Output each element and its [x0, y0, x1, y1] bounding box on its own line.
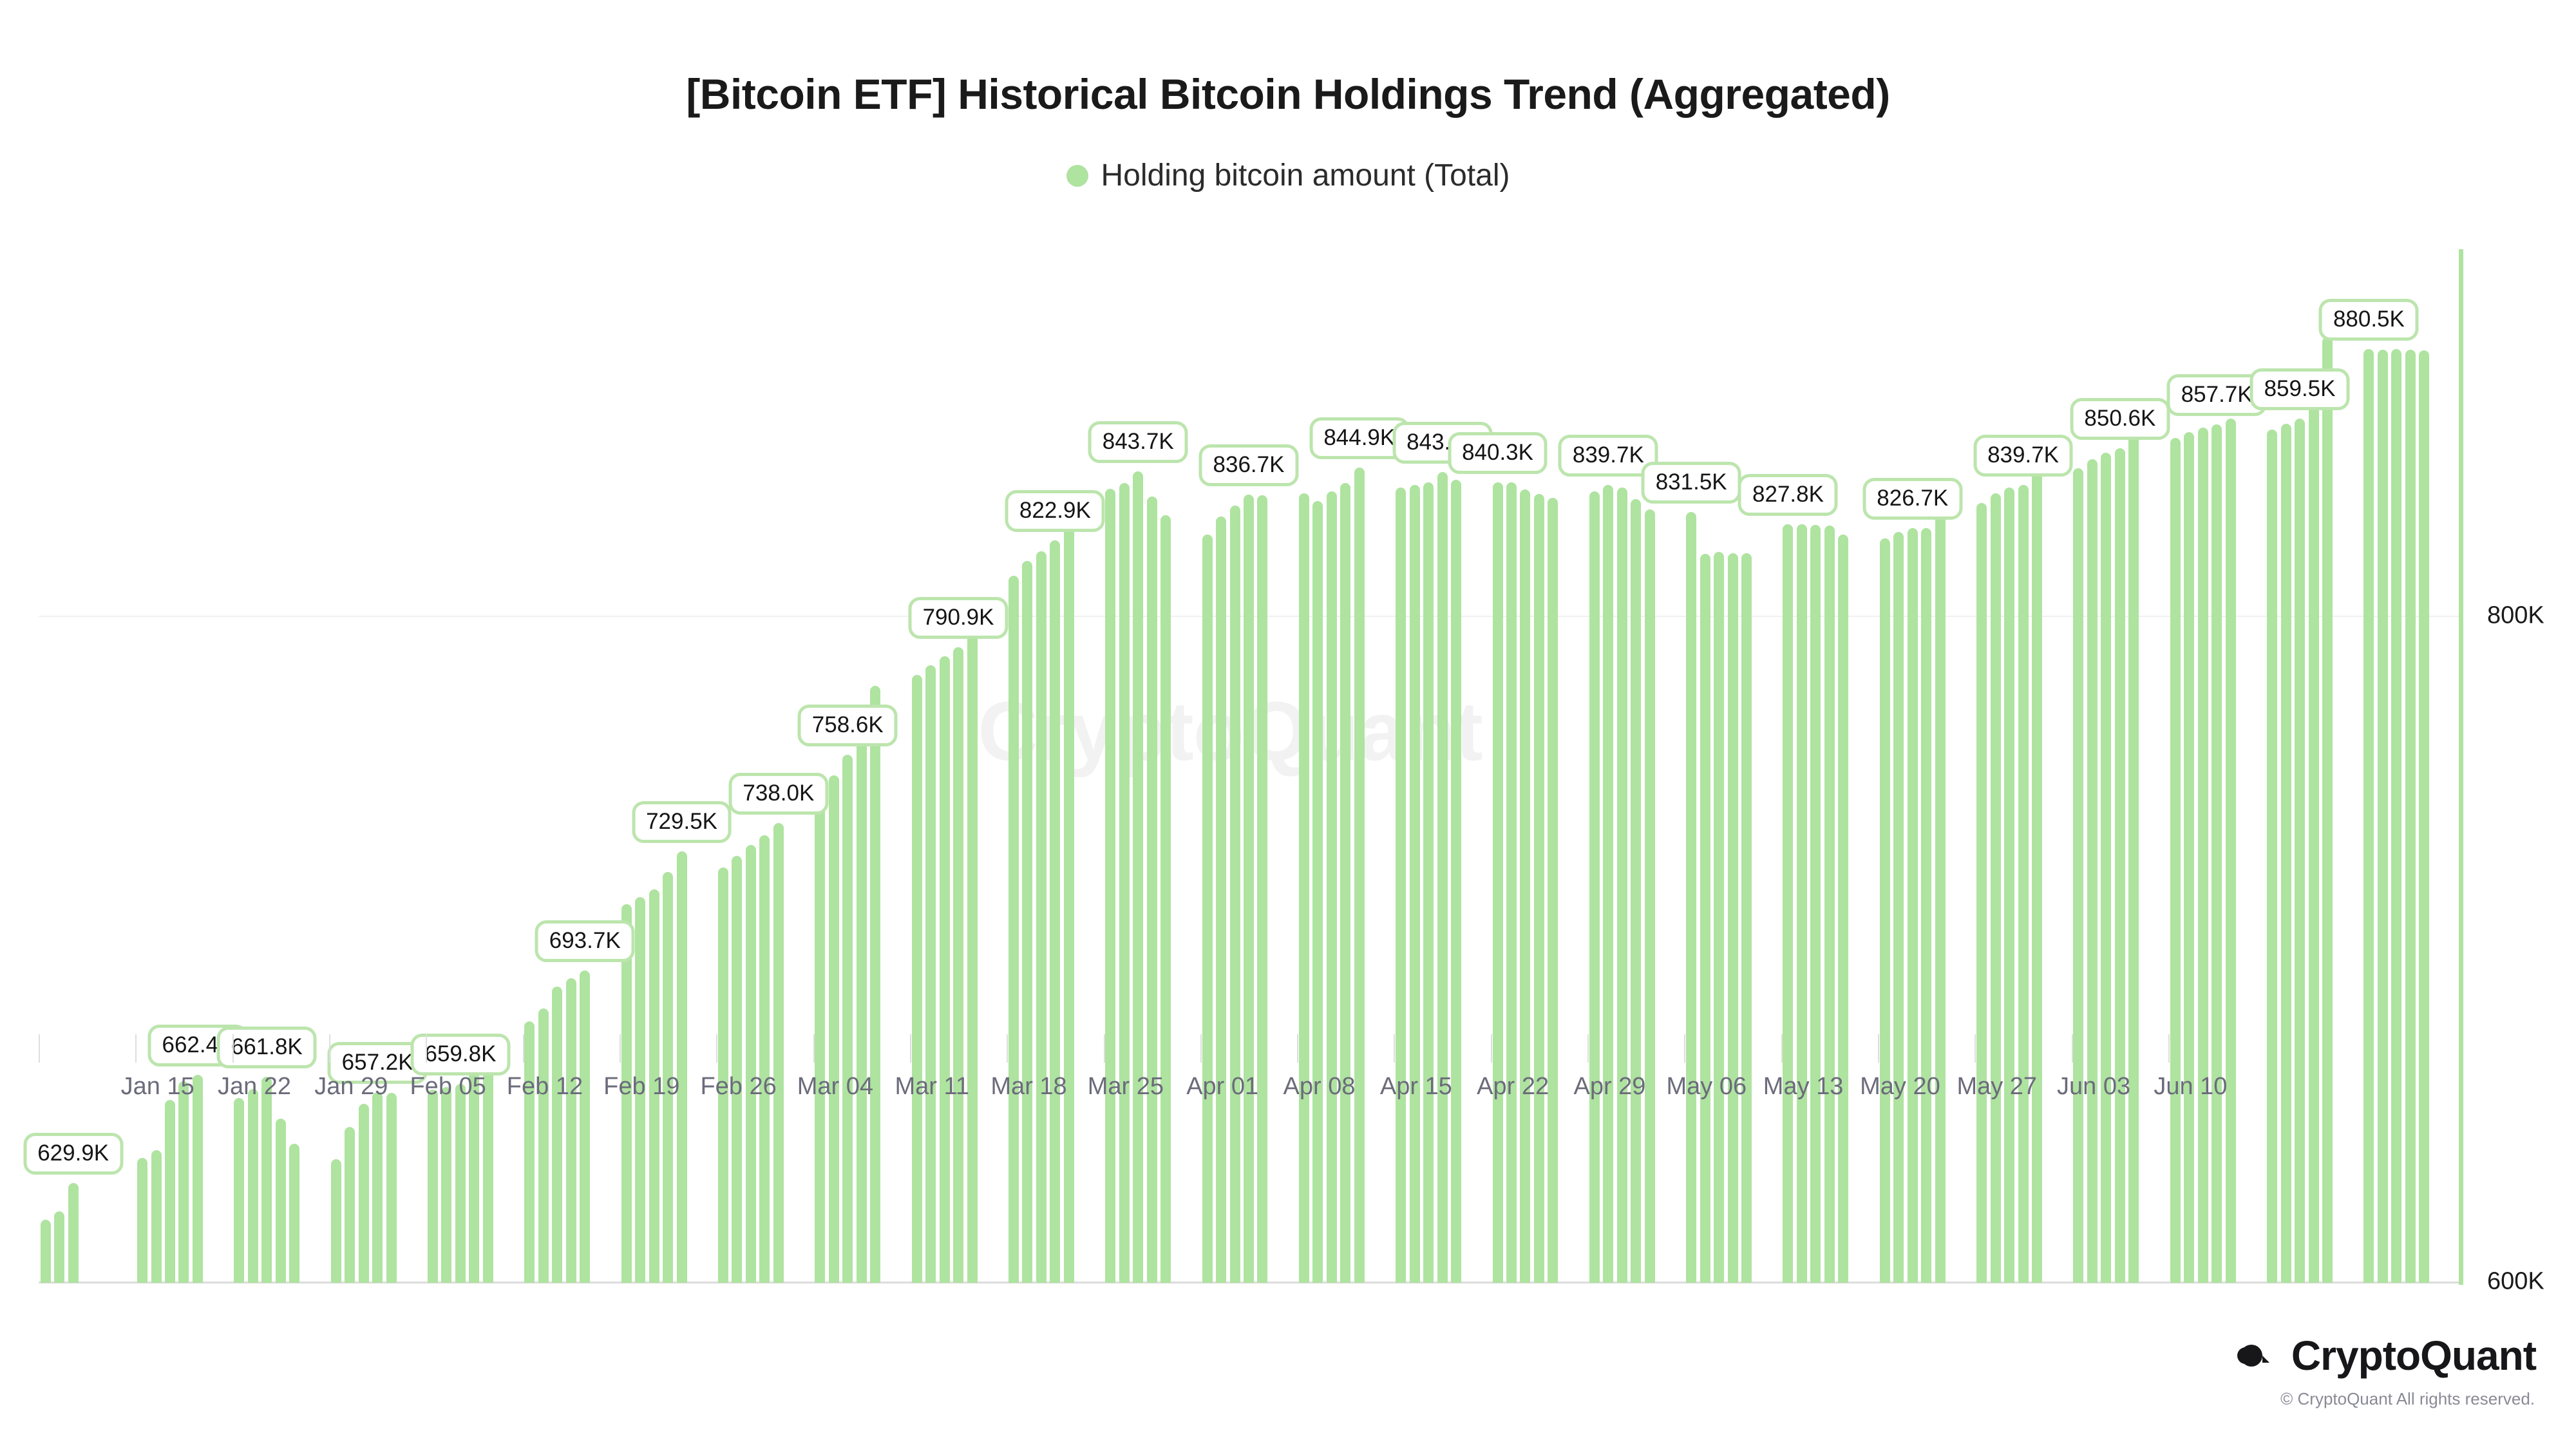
x-axis-tick-label: Apr 15	[1380, 1073, 1452, 1101]
bar[interactable]	[1783, 524, 1793, 1283]
x-axis-tick-label: Jan 22	[218, 1073, 291, 1101]
bar-value-label: 880.5K	[2319, 299, 2419, 341]
bar[interactable]	[248, 1089, 258, 1283]
x-axis-tick	[329, 1034, 330, 1063]
x-axis-tick	[1491, 1034, 1492, 1063]
bar[interactable]	[359, 1104, 369, 1283]
bar[interactable]	[524, 1021, 535, 1283]
bar[interactable]	[580, 971, 590, 1283]
x-axis-tick-label: Apr 01	[1186, 1073, 1258, 1101]
bar-value-label: 840.3K	[1448, 432, 1548, 474]
x-axis-tick	[523, 1034, 524, 1063]
bar[interactable]	[1340, 483, 1350, 1283]
bar[interactable]	[842, 755, 853, 1283]
bar[interactable]	[1022, 561, 1032, 1283]
x-axis-tick-label: Feb 26	[700, 1073, 776, 1101]
bar[interactable]	[1299, 493, 1309, 1283]
bar[interactable]	[2184, 432, 2194, 1283]
bar-value-label: 839.7K	[1973, 435, 2073, 477]
bar[interactable]	[1728, 553, 1738, 1283]
bar-value-label: 822.9K	[1005, 490, 1105, 532]
bar[interactable]	[1935, 485, 1946, 1283]
x-axis-tick-label: Mar 25	[1088, 1073, 1164, 1101]
chart-page: [Bitcoin ETF] Historical Bitcoin Holding…	[0, 0, 2576, 1449]
bar[interactable]	[538, 1009, 549, 1283]
bar[interactable]	[2267, 430, 2277, 1283]
bar[interactable]	[2115, 448, 2125, 1283]
x-axis-tick-label: Mar 11	[895, 1073, 969, 1101]
bar[interactable]	[2032, 448, 2042, 1283]
bar[interactable]	[1506, 482, 1517, 1283]
bar[interactable]	[41, 1220, 51, 1283]
x-axis-tick	[232, 1034, 234, 1063]
bar-value-label: 859.5K	[2250, 368, 2350, 410]
bar[interactable]	[1257, 495, 1267, 1283]
bar[interactable]	[1603, 485, 1613, 1283]
bar[interactable]	[1824, 526, 1835, 1283]
x-axis-tick	[39, 1034, 40, 1063]
bar[interactable]	[1410, 485, 1420, 1283]
chart-legend: Holding bitcoin amount (Total)	[0, 158, 2576, 193]
bar[interactable]	[1050, 540, 1060, 1283]
bar[interactable]	[2087, 459, 2098, 1283]
x-axis-tick	[1684, 1034, 1685, 1063]
x-axis-tick	[1975, 1034, 1976, 1063]
bar[interactable]	[2018, 485, 2029, 1283]
bar[interactable]	[2226, 419, 2236, 1283]
bar[interactable]	[2073, 468, 2083, 1283]
cryptoquant-logo-icon	[2236, 1338, 2277, 1374]
x-axis-tick-label: Jan 15	[121, 1073, 194, 1101]
bar[interactable]	[137, 1158, 147, 1283]
bar-value-label: 629.9K	[23, 1133, 123, 1175]
bar[interactable]	[1202, 535, 1213, 1283]
bar[interactable]	[2281, 424, 2291, 1283]
bar[interactable]	[773, 823, 784, 1283]
x-axis-tick-label: May 06	[1666, 1073, 1747, 1101]
bar[interactable]	[2378, 350, 2388, 1283]
page-title: [Bitcoin ETF] Historical Bitcoin Holding…	[0, 70, 2576, 118]
bar[interactable]	[2004, 488, 2014, 1283]
x-axis-tick-label: Jun 03	[2057, 1073, 2130, 1101]
bar[interactable]	[925, 665, 936, 1283]
y-axis-tick-label: 800K	[2487, 601, 2544, 629]
brand-name-label: CryptoQuant	[2291, 1332, 2536, 1379]
bar[interactable]	[1396, 488, 1406, 1283]
bar[interactable]	[1686, 512, 1696, 1283]
bar[interactable]	[1327, 491, 1337, 1283]
bar-value-label: 758.6K	[798, 705, 898, 746]
x-axis-tick-label: Apr 08	[1283, 1073, 1356, 1101]
bar[interactable]	[1908, 528, 1918, 1283]
bar[interactable]	[1617, 488, 1627, 1283]
bar-value-label: 826.7K	[1862, 478, 1962, 520]
bar[interactable]	[732, 856, 742, 1283]
bar[interactable]	[967, 598, 978, 1283]
bar[interactable]	[1700, 554, 1710, 1283]
bar-value-label: 843.7K	[1088, 421, 1188, 463]
bar[interactable]	[2128, 424, 2139, 1283]
x-axis-tick	[1781, 1034, 1783, 1063]
x-axis-tick	[2072, 1034, 2073, 1063]
bar[interactable]	[1520, 489, 1530, 1283]
bar[interactable]	[178, 1081, 189, 1283]
bar[interactable]	[759, 835, 770, 1283]
bar[interactable]	[2322, 337, 2333, 1283]
x-axis-tick-label: Jun 10	[2154, 1073, 2227, 1101]
x-axis-tick	[1104, 1034, 1105, 1063]
bar[interactable]	[1437, 472, 1448, 1283]
bar[interactable]	[1451, 480, 1461, 1283]
bar[interactable]	[1354, 468, 1365, 1283]
bar[interactable]	[1423, 482, 1434, 1283]
bar[interactable]	[331, 1159, 341, 1283]
bar[interactable]	[1893, 532, 1904, 1283]
bar[interactable]	[1976, 503, 1987, 1283]
bar[interactable]	[1991, 493, 2001, 1283]
bar[interactable]	[1133, 471, 1143, 1283]
x-axis-tick	[135, 1034, 137, 1063]
x-axis-tick-label: Feb 05	[410, 1073, 486, 1101]
bar[interactable]	[1036, 551, 1046, 1283]
bar[interactable]	[1797, 524, 1807, 1283]
brand-logo: CryptoQuant	[2236, 1332, 2536, 1379]
x-axis-tick-label: Apr 29	[1573, 1073, 1645, 1101]
bar[interactable]	[1589, 491, 1600, 1283]
bar[interactable]	[1880, 538, 1890, 1283]
bar[interactable]	[1105, 489, 1115, 1283]
bar[interactable]	[2101, 453, 2111, 1283]
bar[interactable]	[2405, 350, 2416, 1283]
bar[interactable]	[829, 775, 839, 1283]
bar[interactable]	[372, 1092, 383, 1283]
bar[interactable]	[1064, 497, 1074, 1283]
bar-value-label: 831.5K	[1642, 462, 1741, 504]
bar[interactable]	[2295, 419, 2305, 1283]
bar[interactable]	[1244, 495, 1254, 1283]
x-axis-tick-label: Jan 29	[314, 1073, 388, 1101]
x-axis-tick	[1007, 1034, 1008, 1063]
bar[interactable]	[1741, 553, 1752, 1283]
bar[interactable]	[2198, 428, 2208, 1283]
y-axis-line	[2459, 249, 2463, 1285]
legend-color-swatch-icon	[1066, 165, 1088, 187]
bar[interactable]	[1631, 499, 1641, 1283]
bar-value-label: 729.5K	[632, 801, 732, 843]
bar-value-label: 790.9K	[909, 597, 1009, 639]
bar[interactable]	[746, 845, 756, 1283]
bar[interactable]	[857, 729, 867, 1283]
x-axis-tick	[1878, 1034, 1879, 1063]
x-axis-tick-label: Feb 12	[507, 1073, 583, 1101]
bar[interactable]	[2363, 349, 2374, 1283]
x-axis-tick-label: Apr 22	[1477, 1073, 1549, 1101]
bar[interactable]	[815, 801, 825, 1283]
copyright-notice: © CryptoQuant All rights reserved.	[2280, 1389, 2535, 1409]
bar[interactable]	[455, 1084, 466, 1283]
x-axis-tick	[1587, 1034, 1589, 1063]
bar[interactable]	[2419, 350, 2429, 1283]
bar[interactable]	[1160, 515, 1171, 1283]
bar[interactable]	[289, 1144, 299, 1283]
x-axis-tick-label: May 27	[1956, 1073, 2037, 1101]
bar[interactable]	[1645, 509, 1655, 1283]
x-axis-tick-label: Mar 04	[797, 1073, 873, 1101]
bar[interactable]	[2391, 349, 2401, 1283]
bar[interactable]	[1838, 535, 1848, 1283]
bar[interactable]	[1312, 501, 1323, 1283]
x-axis-tick	[620, 1034, 621, 1063]
bar[interactable]	[2309, 379, 2319, 1283]
bar[interactable]	[1493, 482, 1503, 1283]
x-axis-tick	[910, 1034, 911, 1063]
bar[interactable]	[428, 1090, 438, 1283]
x-axis-tick	[813, 1034, 815, 1063]
x-axis-tick-label: May 13	[1763, 1073, 1844, 1101]
bar[interactable]	[1009, 576, 1019, 1283]
legend-series-label: Holding bitcoin amount (Total)	[1101, 158, 1510, 193]
bar[interactable]	[1534, 494, 1544, 1283]
bar[interactable]	[151, 1150, 162, 1283]
bar[interactable]	[940, 656, 950, 1283]
bar[interactable]	[1548, 498, 1558, 1283]
x-axis-tick	[1394, 1034, 1395, 1063]
bar[interactable]	[345, 1127, 355, 1283]
bar[interactable]	[2170, 438, 2181, 1283]
bar[interactable]	[1810, 525, 1821, 1283]
bar[interactable]	[234, 1098, 244, 1283]
bar[interactable]	[1714, 552, 1724, 1283]
bar[interactable]	[870, 686, 880, 1283]
bar-value-label: 738.0K	[728, 773, 828, 815]
bar-value-label: 836.7K	[1199, 444, 1299, 486]
x-axis-tick-label: Mar 18	[990, 1073, 1066, 1101]
bar[interactable]	[276, 1119, 286, 1283]
x-axis-tick	[426, 1034, 427, 1063]
bar-value-label: 850.6K	[2070, 398, 2170, 440]
bar[interactable]	[1230, 506, 1240, 1283]
bar[interactable]	[677, 851, 687, 1283]
y-axis-tick-label: 600K	[2487, 1268, 2544, 1296]
bar[interactable]	[912, 675, 922, 1283]
x-axis-tick-label: May 20	[1860, 1073, 1940, 1101]
bar[interactable]	[441, 1087, 451, 1283]
bar[interactable]	[953, 647, 963, 1283]
bar-value-label: 827.8K	[1738, 474, 1838, 516]
x-axis-tick-label: Feb 19	[603, 1073, 679, 1101]
bar[interactable]	[386, 1093, 397, 1283]
bar[interactable]	[2211, 424, 2222, 1283]
bar[interactable]	[68, 1183, 79, 1283]
bar[interactable]	[165, 1100, 175, 1283]
bar[interactable]	[566, 978, 576, 1283]
bar[interactable]	[552, 987, 562, 1283]
bar[interactable]	[1921, 528, 1931, 1283]
x-axis-tick	[716, 1034, 717, 1063]
bar[interactable]	[1147, 497, 1157, 1283]
bar[interactable]	[1216, 516, 1226, 1283]
bar[interactable]	[261, 1077, 272, 1283]
bar[interactable]	[54, 1211, 64, 1283]
x-axis-tick	[1297, 1034, 1298, 1063]
x-axis-tick	[1200, 1034, 1202, 1063]
x-axis-tick	[2168, 1034, 2170, 1063]
bar-value-label: 693.7K	[535, 920, 635, 962]
bar[interactable]	[193, 1075, 203, 1283]
bar[interactable]	[1119, 483, 1130, 1283]
